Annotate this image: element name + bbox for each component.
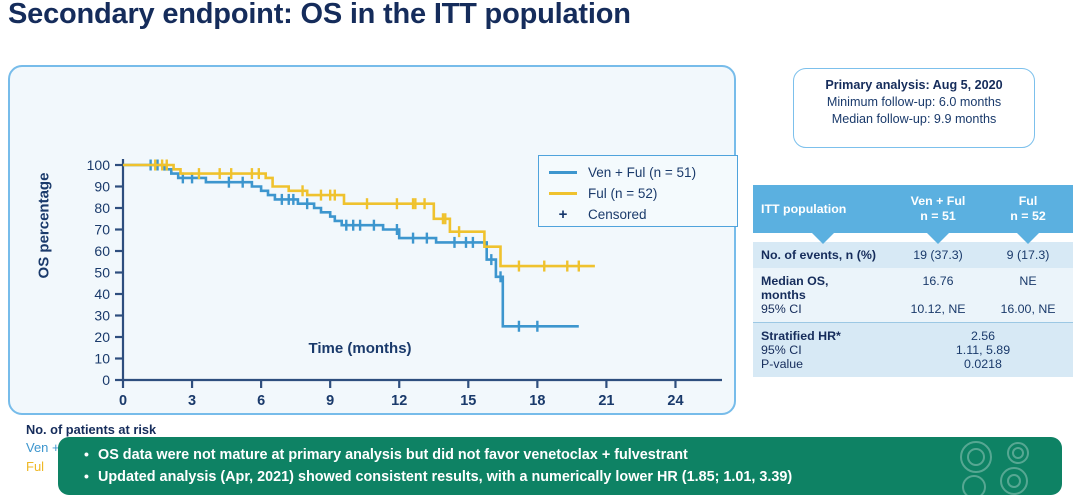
- header-itt-population: ITT population: [753, 185, 893, 233]
- row-label-stratified-hr: Stratified HR* 95% CI P-value: [753, 322, 893, 377]
- median-os-ful: NE 16.00, NE: [983, 268, 1073, 322]
- y-tick-label: 30: [94, 308, 110, 324]
- results-table: ITT population Ven + Ful n = 51 Ful n = …: [753, 185, 1073, 377]
- table-row-stratified-hr: Stratified HR* 95% CI P-value 2.56 1.11,…: [753, 322, 1073, 377]
- y-tick-label: 100: [87, 157, 111, 173]
- chart-legend: Ven + Ful (n = 51) Ful (n = 52) + Censor…: [538, 155, 738, 227]
- x-tick-label: 21: [598, 393, 614, 409]
- header-ven-ful: Ven + Ful n = 51: [893, 185, 983, 233]
- notch-triangle-icon: [812, 233, 834, 244]
- x-tick-label: 15: [460, 393, 476, 409]
- kaplan-meier-plot: 010203040506070809010003691215182124: [10, 67, 738, 417]
- header-notch-row: [753, 233, 1073, 242]
- legend-swatch-blue: [549, 171, 577, 174]
- banner-bullet-1: OS data were not mature at primary analy…: [84, 444, 1062, 466]
- median-os-ven-ful: 16.76 10.12, NE: [893, 268, 983, 322]
- y-tick-label: 0: [102, 372, 110, 388]
- notch-triangle-icon: [927, 233, 949, 244]
- conclusion-banner: OS data were not mature at primary analy…: [58, 437, 1062, 495]
- header-ful: Ful n = 52: [983, 185, 1073, 233]
- y-axis-label: OS percentage: [36, 156, 53, 296]
- median-followup: Median follow-up: 9.9 months: [794, 111, 1034, 128]
- events-ful: 9 (17.3): [983, 242, 1073, 268]
- table-header-row: ITT population Ven + Ful n = 51 Ful n = …: [753, 185, 1073, 233]
- legend-label-ful: Ful (n = 52): [588, 186, 657, 201]
- x-tick-label: 24: [667, 393, 683, 409]
- analysis-info-box: Primary analysis: Aug 5, 2020 Minimum fo…: [793, 68, 1035, 148]
- legend-swatch-yellow: [549, 192, 577, 195]
- km-curve-1: [123, 165, 595, 266]
- chart-panel: 010203040506070809010003691215182124 OS …: [8, 65, 736, 415]
- y-tick-label: 80: [94, 200, 110, 216]
- events-ven-ful: 19 (37.3): [893, 242, 983, 268]
- legend-item-ven-ful: Ven + Ful (n = 51): [549, 162, 737, 183]
- y-tick-label: 90: [94, 179, 110, 195]
- legend-item-ful: Ful (n = 52): [549, 183, 737, 204]
- x-tick-label: 3: [188, 393, 196, 409]
- notch-cell-2: [893, 233, 983, 242]
- y-tick-label: 40: [94, 286, 110, 302]
- legend-label-ven-ful: Ven + Ful (n = 51): [588, 165, 696, 180]
- notch-cell-1: [753, 233, 893, 242]
- x-axis-label: Time (months): [240, 340, 480, 357]
- legend-label-censored: Censored: [588, 207, 647, 222]
- stratified-hr-values: 2.56 1.11, 5.89 0.0218: [893, 322, 1073, 377]
- table-row-events: No. of events, n (%) 19 (37.3) 9 (17.3): [753, 242, 1073, 268]
- y-tick-label: 10: [94, 351, 110, 367]
- row-label-events: No. of events, n (%): [753, 242, 893, 268]
- y-tick-label: 20: [94, 329, 110, 345]
- km-curve-0: [123, 165, 579, 326]
- x-tick-label: 18: [529, 393, 545, 409]
- x-tick-label: 0: [119, 393, 127, 409]
- y-tick-label: 70: [94, 222, 110, 238]
- y-tick-label: 50: [94, 265, 110, 281]
- legend-item-censored: + Censored: [549, 204, 737, 225]
- at-risk-row-label: Ful: [26, 459, 44, 474]
- x-tick-label: 9: [326, 393, 334, 409]
- table-row-median-os: Median OS, months 95% CI 16.76 10.12, NE…: [753, 268, 1073, 322]
- x-tick-label: 12: [391, 393, 407, 409]
- notch-cell-3: [983, 233, 1073, 242]
- page-title: Secondary endpoint: OS in the ITT popula…: [8, 0, 631, 31]
- primary-analysis-date: Primary analysis: Aug 5, 2020: [794, 77, 1034, 94]
- banner-bullet-list: OS data were not mature at primary analy…: [58, 437, 1062, 488]
- banner-bullet-2: Updated analysis (Apr, 2021) showed cons…: [84, 466, 1062, 488]
- plus-icon: +: [549, 209, 577, 221]
- notch-triangle-icon: [1017, 233, 1039, 244]
- y-tick-label: 60: [94, 243, 110, 259]
- x-tick-label: 6: [257, 393, 265, 409]
- minimum-followup: Minimum follow-up: 6.0 months: [794, 94, 1034, 111]
- slide: Secondary endpoint: OS in the ITT popula…: [0, 0, 1080, 502]
- row-label-median-os: Median OS, months 95% CI: [753, 268, 893, 322]
- at-risk-title: No. of patients at risk: [26, 422, 746, 437]
